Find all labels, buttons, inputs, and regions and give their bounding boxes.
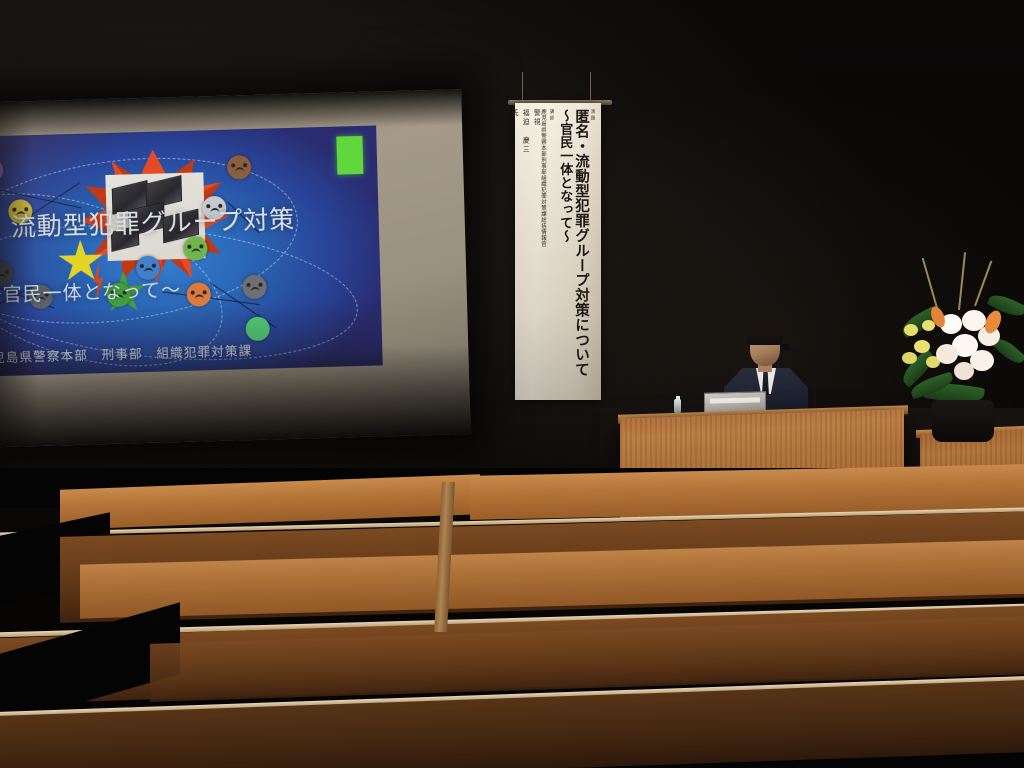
twig <box>922 258 938 309</box>
pink-flower <box>954 362 974 380</box>
yellow-orchid <box>902 352 917 364</box>
projected-slide: 匿名・流動型犯罪グループ対策 ～官民一体となって～ 鹿児島県警察本部 刑事部 組… <box>0 125 383 377</box>
banner-cloth: 演題 匿名・流動型犯罪グループ対策について ～官民一体となって～ 講師 鹿児島県… <box>515 103 601 400</box>
banner-string-left <box>522 72 523 102</box>
screen-shadow-bottom <box>0 344 471 448</box>
banner-speaker-name: 福迫 慶三 <box>519 109 529 392</box>
slide-glare-overlay <box>0 125 383 377</box>
banner-affiliation: 鹿児島県警察本部刑事部組織犯罪対策課総括情報官 <box>539 109 545 392</box>
twig <box>958 252 966 310</box>
lecture-hall-photo: 匿名・流動型犯罪グループ対策 ～官民一体となって～ 鹿児島県警察本部 刑事部 組… <box>0 0 1024 768</box>
projection-screen: 匿名・流動型犯罪グループ対策 ～官民一体となって～ 鹿児島県警察本部 刑事部 組… <box>0 89 471 448</box>
banner-string-right <box>590 72 591 102</box>
banner-topic-header: 演題 <box>590 109 596 122</box>
microphone-gooseneck <box>790 348 816 410</box>
foreground-seating <box>0 468 1024 768</box>
yellow-orchid <box>904 324 918 336</box>
flower-vase <box>932 400 994 442</box>
banner-title-main: 匿名・流動型犯罪グループ対策について <box>573 109 588 392</box>
microphone-head-icon <box>780 344 790 351</box>
banner-lecturer-header: 講師 <box>549 109 555 122</box>
white-flower <box>936 344 958 364</box>
banner-title-sub: ～官民一体となって～ <box>559 109 572 392</box>
flower-arrangement <box>896 252 1024 442</box>
banner-honorific: 氏 <box>508 109 518 392</box>
yellow-orchid <box>914 340 930 353</box>
hanging-banner: 演題 匿名・流動型犯罪グループ対策について ～官民一体となって～ 講師 鹿児島県… <box>504 72 610 402</box>
speaker-hair <box>747 328 783 345</box>
